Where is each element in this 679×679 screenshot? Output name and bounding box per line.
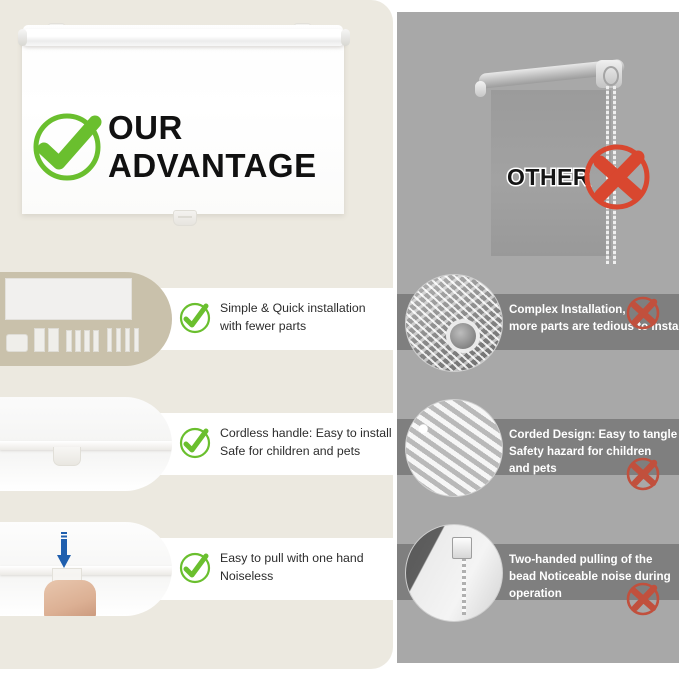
- other-headrail-endcap: [475, 81, 486, 97]
- tangled-parts-photo: [405, 274, 503, 372]
- screw-2: [75, 330, 81, 352]
- green-check-circle-icon: [178, 551, 212, 585]
- bottom-rail-bead-chain-photo: [405, 524, 503, 622]
- our-advantage-badge: OUR ADVANTAGE: [28, 108, 317, 186]
- installation-parts-kit-photo: [0, 272, 172, 366]
- cordless-handle-closeup-photo: [0, 397, 172, 491]
- advantage-row-2-line-2: Safe for children and pets: [220, 443, 388, 461]
- bottom-rail-shape: [0, 566, 172, 575]
- hand-pulling-blind-photo: [0, 522, 172, 616]
- chain-clutch-mechanism: [596, 60, 622, 88]
- mounting-bracket-shape: [5, 278, 132, 320]
- red-x-circle-icon: [580, 140, 654, 214]
- advantage-row-3-line-2: Noiseless: [220, 568, 388, 586]
- advantage-row-2: Cordless handle: Easy to install Safe fo…: [0, 413, 393, 475]
- part-bracket-1: [6, 334, 28, 352]
- headrail-endcap-right: [341, 29, 350, 46]
- other-title: OTHER: [507, 164, 590, 191]
- green-check-circle-icon: [178, 301, 212, 335]
- advantage-row-3-text: Easy to pull with one hand Noiseless: [220, 550, 388, 585]
- screw-7: [125, 328, 130, 352]
- advantage-row-3: Easy to pull with one hand Noiseless: [0, 538, 393, 600]
- screw-1: [66, 330, 72, 352]
- hand-shape: [44, 580, 96, 616]
- screw-3: [84, 330, 90, 352]
- cordless-handle: [173, 210, 197, 226]
- title-line-1: OUR: [108, 109, 317, 147]
- other-row-2-line-1: Corded Design: Easy to tangle: [509, 426, 677, 443]
- screw-5: [107, 328, 112, 352]
- other-row-3-line-1: Two-handed pulling of the: [509, 551, 677, 568]
- part-bracket-3: [48, 328, 59, 352]
- comparison-infographic: OUR ADVANTAGE: [0, 0, 679, 679]
- green-check-circle-icon: [28, 108, 106, 186]
- advantage-row-3-line-1: Easy to pull with one hand: [220, 550, 388, 568]
- beaded-chain-pile-photo: [405, 399, 503, 497]
- page-title: OUR ADVANTAGE: [108, 109, 317, 185]
- title-line-2: ADVANTAGE: [108, 147, 317, 185]
- screw-8: [134, 328, 139, 352]
- advantage-row-1-line-2: with fewer parts: [220, 318, 388, 336]
- red-x-circle-icon: [624, 580, 662, 618]
- advantage-row-2-line-1: Cordless handle: Easy to install: [220, 425, 388, 443]
- other-row-2: Corded Design: Easy to tangle Safety haz…: [397, 419, 679, 475]
- red-x-circle-icon: [624, 294, 662, 332]
- advantage-row-1-line-1: Simple & Quick installation: [220, 300, 388, 318]
- bottom-rail-shape: [0, 441, 172, 450]
- other-badge: OTHER: [507, 140, 654, 214]
- part-bracket-2: [34, 328, 45, 352]
- green-check-circle-icon: [178, 426, 212, 460]
- down-arrow-icon: [56, 532, 72, 570]
- screw-4: [93, 330, 99, 352]
- advantage-row-2-text: Cordless handle: Easy to install Safe fo…: [220, 425, 388, 460]
- advantage-row-1-text: Simple & Quick installation with fewer p…: [220, 300, 388, 335]
- headrail-endcap-left: [18, 29, 27, 46]
- screw-6: [116, 328, 121, 352]
- headrail: [20, 29, 347, 46]
- advantage-panel: OUR ADVANTAGE: [0, 0, 393, 669]
- other-row-1: Complex Installation, more parts are ted…: [397, 294, 679, 350]
- handle-shape: [53, 447, 81, 466]
- advantage-row-1: Simple & Quick installation with fewer p…: [0, 288, 393, 350]
- red-x-circle-icon: [624, 455, 662, 493]
- other-panel: OTHER Complex Installation, more parts a…: [397, 12, 679, 663]
- other-row-3: Two-handed pulling of the bead Noticeabl…: [397, 544, 679, 600]
